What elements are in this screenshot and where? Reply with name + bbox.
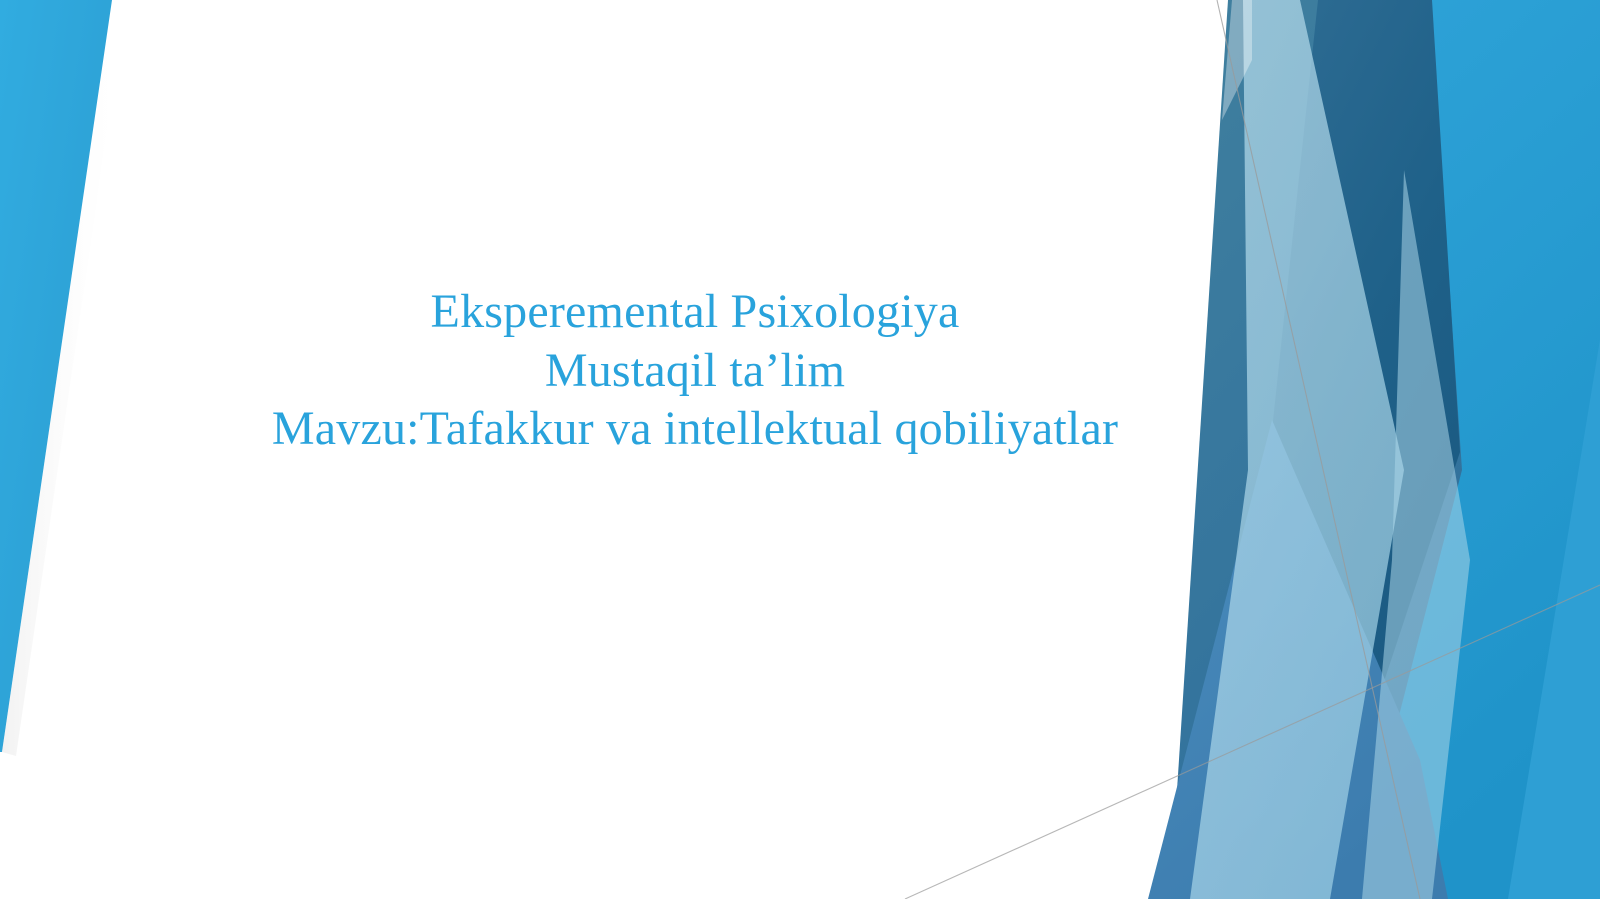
right-cyan-band-shape [1300, 0, 1600, 899]
hairline-diagonal-upper [1217, 0, 1420, 899]
right-steel-band-shape [1170, 0, 1462, 899]
hairline-diagonal-lower [905, 585, 1600, 899]
title-line-1: Eksperemental Psixologiya [180, 283, 1210, 342]
pale-blue-overlay-right [1362, 170, 1470, 899]
slide-title-block: Eksperemental Psixologiya Mustaqil ta’li… [180, 283, 1210, 459]
highlight-sliver [1222, 0, 1252, 120]
right-navy-wedge-shape [1272, 0, 1460, 760]
right-far-cyan-column [1330, 0, 1600, 899]
title-line-2: Mustaqil ta’lim [180, 342, 1210, 401]
bottom-mid-blue-wedge-shape [1148, 420, 1448, 899]
pale-blue-overlay-left [1190, 0, 1404, 899]
left-cyan-wedge-shape [0, 0, 112, 752]
title-line-3: Mavzu:Tafakkur va intellektual qobiliyat… [180, 400, 1210, 459]
left-wedge-soft-edge [2, 0, 126, 756]
presentation-slide: Eksperemental Psixologiya Mustaqil ta’li… [0, 0, 1600, 899]
